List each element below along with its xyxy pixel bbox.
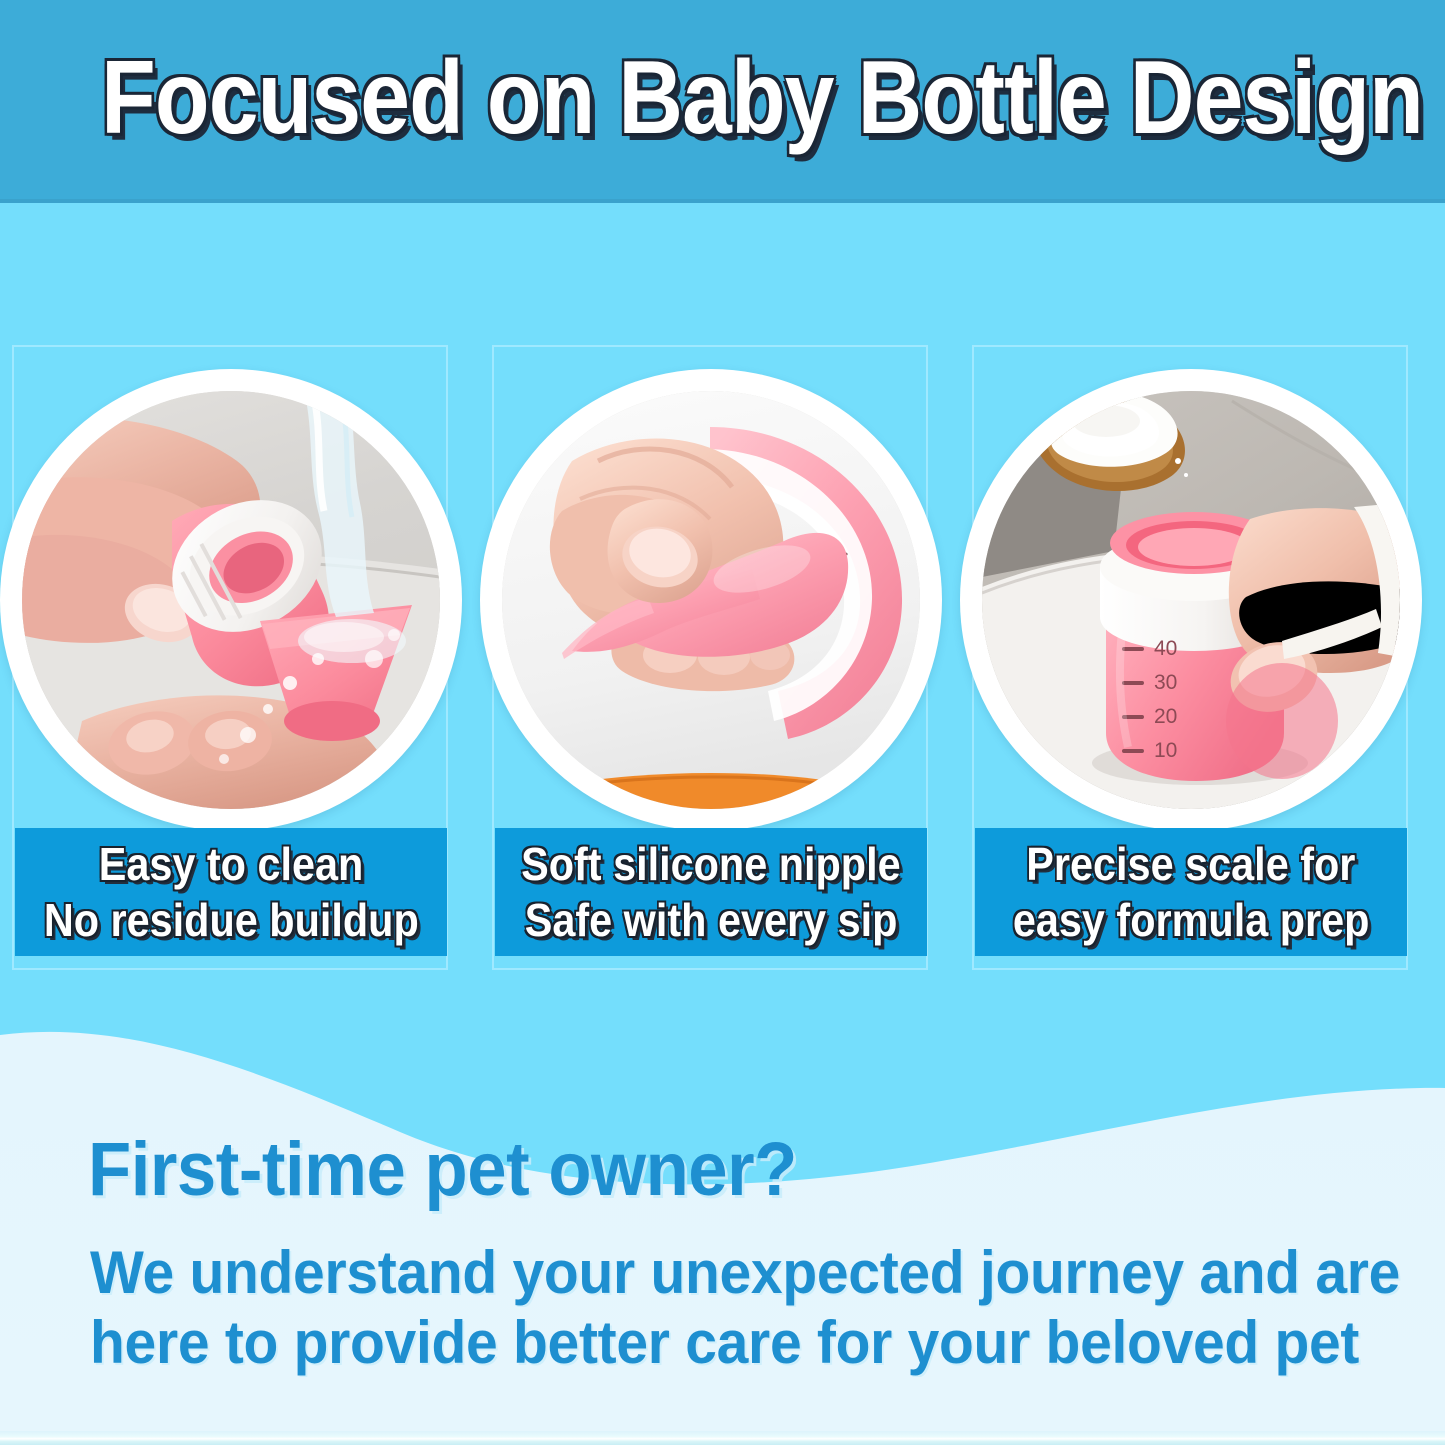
caption-line-2: Safe with every sip [525,892,898,948]
footer-body: We understand your unexpected journey an… [90,1238,1360,1378]
card-caption-easy-to-clean: Easy to clean No residue buildup [15,828,447,956]
page-title: Focused on Baby Bottle Design [101,42,1344,154]
caption-line-1: Easy to clean [99,836,364,892]
bottom-wave-panel [0,1000,1445,1445]
header-band: Focused on Baby Bottle Design [0,0,1445,203]
footer-body-line-2: here to provide better care for your bel… [90,1308,1297,1378]
caption-line-1: Precise scale for [1026,836,1355,892]
svg-text:40: 40 [1154,637,1177,660]
card-caption-precise-scale: Precise scale for easy formula prep [975,828,1407,956]
svg-text:10: 10 [1154,739,1177,762]
photo-frame: 40 30 20 10 [960,369,1422,831]
photo-frame [0,369,462,831]
caption-line-2: No residue buildup [44,892,419,948]
photo-frame: 40 [480,369,942,831]
card-caption-soft-nipple: Soft silicone nipple Safe with every sip [495,828,927,956]
photo-soft-nipple: 40 [502,391,920,809]
feature-card-precise-scale[interactable]: 40 30 20 10 [972,345,1408,970]
photo-precise-scale: 40 30 20 10 [982,391,1400,809]
caption-line-2: easy formula prep [1013,892,1370,948]
product-infographic: Focused on Baby Bottle Design [0,0,1445,1445]
caption-line-1: Soft silicone nipple [521,836,901,892]
svg-text:30: 30 [1154,671,1177,694]
feature-card-row: Easy to clean No residue buildup [0,345,1445,975]
bottom-edge-strip [0,1431,1445,1445]
feature-card-soft-nipple[interactable]: 40 [492,345,928,970]
footer-body-line-1: We understand your unexpected journey an… [90,1238,1297,1308]
wave-shape [0,1000,1445,1445]
footer-heading: First-time pet owner? [88,1128,797,1212]
svg-text:20: 20 [1154,705,1177,728]
photo-easy-to-clean [22,391,440,809]
feature-card-easy-to-clean[interactable]: Easy to clean No residue buildup [12,345,448,970]
